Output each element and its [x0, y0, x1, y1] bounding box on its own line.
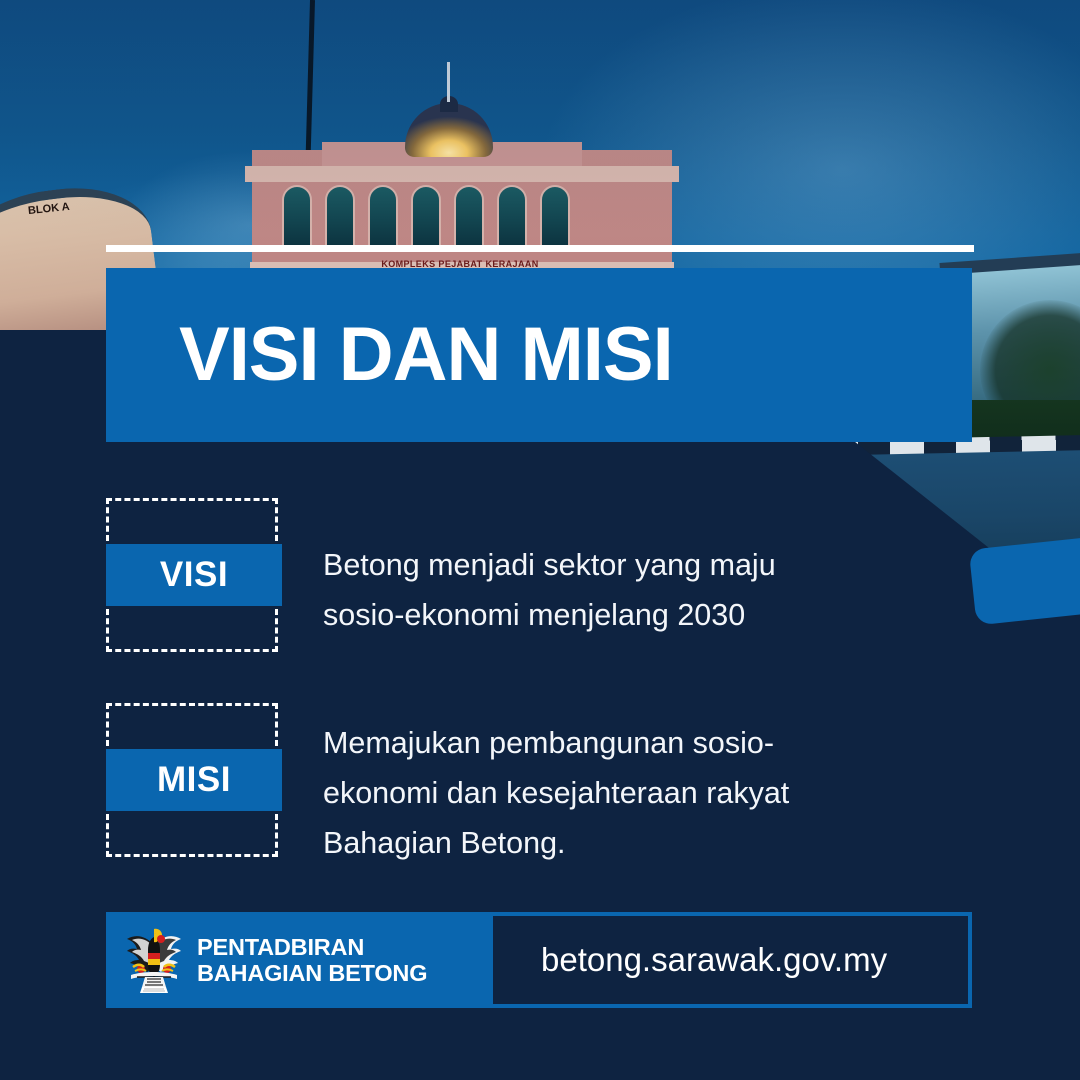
misi-row: MISI Memajukan pembangunan sosio- ekonom…: [106, 703, 789, 868]
footer-brand-label: PENTADBIRAN BAHAGIAN BETONG: [197, 934, 427, 986]
arch: [325, 185, 355, 247]
misi-tag-label: MISI: [157, 760, 231, 800]
misi-text: Memajukan pembangunan sosio- ekonomi dan…: [323, 718, 789, 868]
arch: [411, 185, 441, 247]
misi-tag-box: MISI: [106, 703, 278, 857]
header-rule: [106, 245, 974, 252]
building-cornice: [245, 166, 679, 182]
footer-url-box[interactable]: betong.sarawak.gov.my: [489, 912, 972, 1008]
website-url[interactable]: betong.sarawak.gov.my: [541, 941, 887, 979]
blue-accent-tab: [969, 536, 1080, 625]
arch: [540, 185, 570, 247]
visi-tag-band: VISI: [106, 544, 282, 606]
footer-bar: PENTADBIRAN BAHAGIAN BETONG betong.saraw…: [106, 912, 972, 1008]
arch: [497, 185, 527, 247]
visi-row: VISI Betong menjadi sektor yang maju sos…: [106, 498, 776, 652]
footer-brand-block: PENTADBIRAN BAHAGIAN BETONG: [106, 912, 489, 1008]
page-title: VISI DAN MISI: [106, 317, 673, 393]
visi-tag-box: VISI: [106, 498, 278, 652]
visi-text: Betong menjadi sektor yang maju sosio-ek…: [323, 540, 776, 640]
title-banner: VISI DAN MISI: [106, 268, 972, 442]
arch: [368, 185, 398, 247]
arch: [454, 185, 484, 247]
misi-tag-band: MISI: [106, 749, 282, 811]
poster-canvas: BLOK A KOMPLEKS PEJABAT KERAJAAN: [0, 0, 1080, 1080]
arch: [282, 185, 312, 247]
sarawak-coat-of-arms-icon: [123, 923, 185, 997]
visi-tag-label: VISI: [160, 555, 228, 595]
upper-arch-row: [282, 185, 570, 247]
dome-spire: [447, 62, 450, 102]
